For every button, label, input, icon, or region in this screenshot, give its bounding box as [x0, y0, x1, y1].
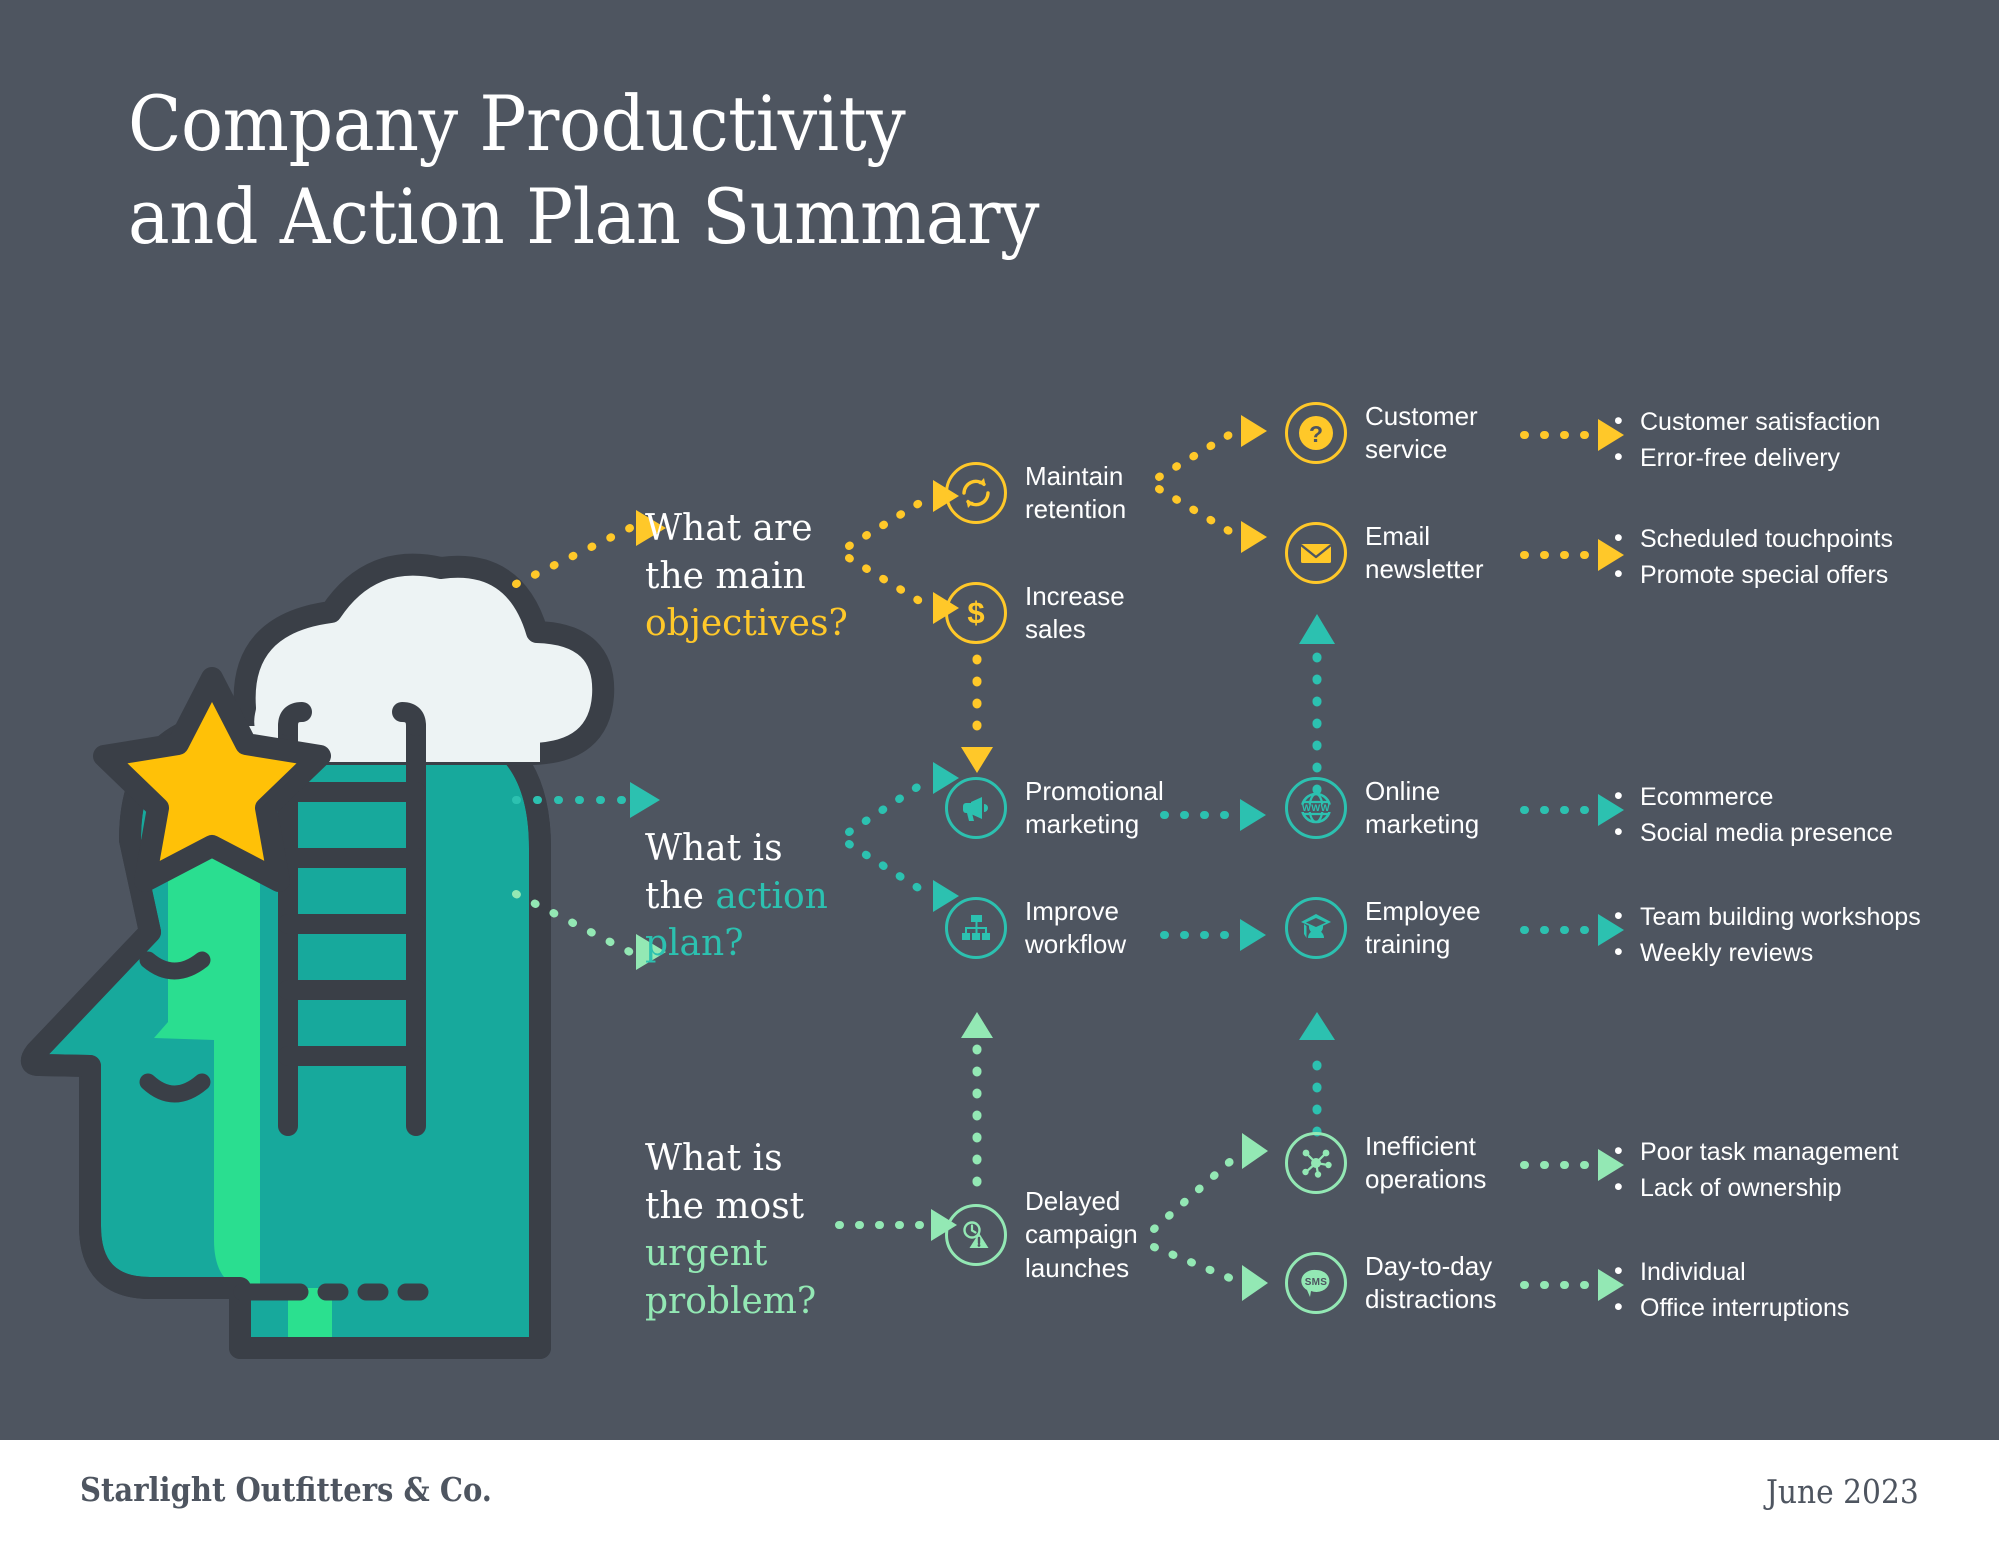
- node-label: Customer service: [1365, 400, 1525, 467]
- node-improve-workflow[interactable]: Improve workflow: [945, 895, 1185, 962]
- question-urgent-problem: What is the most urgent problem?: [645, 1135, 885, 1325]
- list-item: Customer satisfaction: [1610, 405, 1999, 441]
- dollar-sign-icon: $: [945, 582, 1007, 644]
- node-promotional-marketing[interactable]: Promotional marketing: [945, 775, 1185, 842]
- svg-text:$: $: [967, 595, 984, 630]
- svg-text:?: ?: [1309, 421, 1323, 447]
- node-delayed-campaign-launches[interactable]: Delayed campaign launches: [945, 1185, 1200, 1285]
- node-day-to-day-distractions[interactable]: SMS Day-to-day distractions: [1285, 1250, 1525, 1317]
- node-increase-sales[interactable]: $ Increase sales: [945, 580, 1185, 647]
- footer-brand: Starlight Outfitters & Co.: [80, 1470, 492, 1509]
- list-item: Promote special offers: [1610, 558, 1999, 594]
- list-item: Error-free delivery: [1610, 441, 1999, 477]
- node-employee-training[interactable]: Employee training: [1285, 895, 1525, 962]
- svg-text:SMS: SMS: [1305, 1277, 1328, 1288]
- bullets-inefficient-operations: Poor task management Lack of ownership: [1610, 1135, 1999, 1206]
- node-label: Online marketing: [1365, 775, 1525, 842]
- node-label: Employee training: [1365, 895, 1525, 962]
- node-email-newsletter[interactable]: Email newsletter: [1285, 520, 1525, 587]
- question-objectives: What are the main objectives?: [645, 505, 885, 648]
- question-objectives-accent: objectives?: [645, 603, 848, 644]
- node-label: Promotional marketing: [1025, 775, 1185, 842]
- network-hub-icon: [1285, 1132, 1347, 1194]
- node-label: Delayed campaign launches: [1025, 1185, 1200, 1285]
- node-label: Day-to-day distractions: [1365, 1250, 1525, 1317]
- bullets-online-marketing: Ecommerce Social media presence: [1610, 780, 1999, 851]
- node-label: Increase sales: [1025, 580, 1185, 647]
- clock-warning-icon: [945, 1204, 1007, 1266]
- question-urgent-plain: What is the most: [645, 1138, 804, 1227]
- org-chart-icon: [945, 897, 1007, 959]
- bullets-employee-training: Team building workshops Weekly reviews: [1610, 900, 1999, 971]
- node-label: Maintain retention: [1025, 460, 1185, 527]
- question-objectives-plain: What are the main: [645, 508, 813, 597]
- node-maintain-retention[interactable]: Maintain retention: [945, 460, 1185, 527]
- list-item: Team building workshops: [1610, 900, 1999, 936]
- node-online-marketing[interactable]: WWW Online marketing: [1285, 775, 1525, 842]
- question-action-plan: What is the action plan?: [645, 825, 885, 968]
- envelope-icon: [1285, 522, 1347, 584]
- list-item: Weekly reviews: [1610, 936, 1999, 972]
- svg-text:WWW: WWW: [1302, 803, 1330, 814]
- question-mark-icon: ?: [1285, 402, 1347, 464]
- graduation-cap-icon: [1285, 897, 1347, 959]
- list-item: Social media presence: [1610, 816, 1999, 852]
- sms-bubble-icon: SMS: [1285, 1252, 1347, 1314]
- infographic-canvas: Company Productivity and Action Plan Sum…: [0, 0, 1999, 1545]
- node-label: Improve workflow: [1025, 895, 1185, 962]
- list-item: Ecommerce: [1610, 780, 1999, 816]
- list-item: Scheduled touchpoints: [1610, 522, 1999, 558]
- list-item: Individual: [1610, 1255, 1999, 1291]
- megaphone-icon: [945, 777, 1007, 839]
- retention-refresh-icon: [945, 462, 1007, 524]
- bullets-email-newsletter: Scheduled touchpoints Promote special of…: [1610, 522, 1999, 593]
- head-illustration: [30, 530, 560, 1360]
- list-item: Poor task management: [1610, 1135, 1999, 1171]
- node-label: Email newsletter: [1365, 520, 1525, 587]
- node-label: Inefficient operations: [1365, 1130, 1525, 1197]
- question-urgent-accent: urgent problem?: [645, 1233, 816, 1322]
- list-item: Office interruptions: [1610, 1291, 1999, 1327]
- bullets-day-to-day-distractions: Individual Office interruptions: [1610, 1255, 1999, 1326]
- node-inefficient-operations[interactable]: Inefficient operations: [1285, 1130, 1525, 1197]
- page-title: Company Productivity and Action Plan Sum…: [128, 78, 1324, 263]
- bullets-customer-service: Customer satisfaction Error-free deliver…: [1610, 405, 1999, 476]
- node-customer-service[interactable]: ? Customer service: [1285, 400, 1525, 467]
- www-globe-icon: WWW: [1285, 777, 1347, 839]
- list-item: Lack of ownership: [1610, 1171, 1999, 1207]
- footer-date: June 2023: [1766, 1472, 1919, 1511]
